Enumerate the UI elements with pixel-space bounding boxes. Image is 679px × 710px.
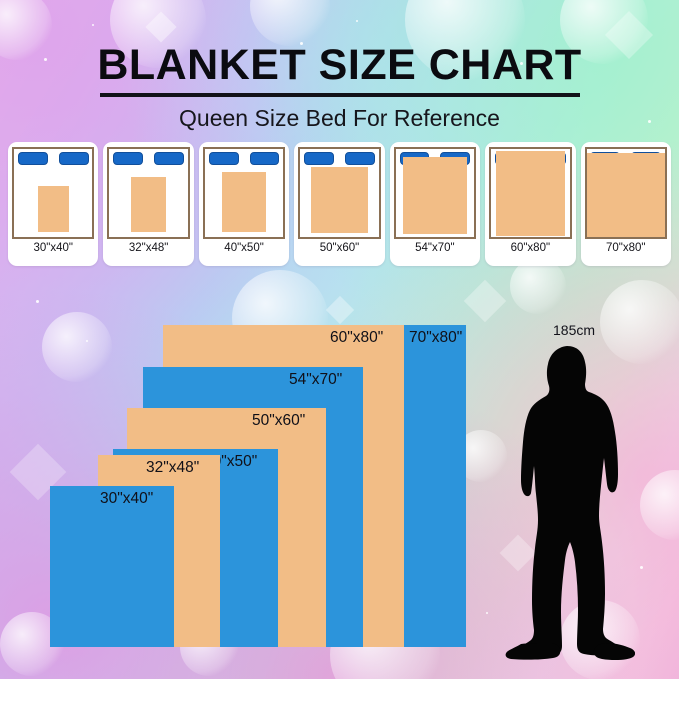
bed-card: 54"x70" (390, 142, 480, 266)
male-silhouette-icon (505, 344, 635, 662)
bed-card-label: 60"x80" (511, 242, 551, 254)
blanket-overlay (587, 153, 665, 237)
blanket-overlay (222, 172, 266, 232)
bed-frame (203, 147, 285, 239)
bed-frame (107, 147, 189, 239)
page-title: BLANKET SIZE CHART (97, 44, 581, 93)
pillow-right (250, 152, 280, 165)
bed-reference-row: 30"x40"32"x48"40"x50"50"x60"54"x70"60"x8… (8, 142, 671, 266)
bed-frame (489, 147, 571, 239)
bed-frame (585, 147, 667, 239)
bed-frame (12, 147, 94, 239)
bed-card-label: 50"x60" (320, 242, 360, 254)
person-reference-group: 185cm (505, 322, 675, 662)
pillow-left (304, 152, 334, 165)
blanket-overlay (38, 186, 69, 232)
bed-card: 60"x80" (485, 142, 575, 266)
pillow-left (209, 152, 239, 165)
bed-card-label: 70"x80" (606, 242, 646, 254)
size-rect (50, 486, 174, 647)
size-rect-label: 54"x70" (289, 371, 342, 389)
pillow-left (113, 152, 143, 165)
size-rect (404, 325, 466, 647)
pillow-right (59, 152, 89, 165)
bed-card-label: 40"x50" (224, 242, 264, 254)
size-rect-label: 32"x48" (146, 459, 199, 477)
title-block: BLANKET SIZE CHART Queen Size Bed For Re… (0, 44, 679, 132)
bed-card: 50"x60" (294, 142, 384, 266)
page-subtitle: Queen Size Bed For Reference (0, 105, 679, 132)
blanket-overlay (131, 177, 166, 232)
size-rect-label: 50"x60" (252, 412, 305, 430)
person-height-label: 185cm (553, 322, 595, 338)
size-rect-label: 30"x40" (100, 490, 153, 508)
pillow-right (345, 152, 375, 165)
title-underline (100, 93, 580, 97)
blanket-overlay (496, 151, 565, 236)
pillow-left (18, 152, 48, 165)
blanket-overlay (403, 157, 467, 234)
bed-card-label: 30"x40" (33, 242, 73, 254)
bed-card: 30"x40" (8, 142, 98, 266)
bed-frame (298, 147, 380, 239)
bed-card-label: 54"x70" (415, 242, 455, 254)
pillow-right (154, 152, 184, 165)
bed-card: 40"x50" (199, 142, 289, 266)
bed-card: 70"x80" (581, 142, 671, 266)
blanket-overlay (311, 167, 367, 234)
bed-card-label: 32"x48" (129, 242, 169, 254)
bed-frame (394, 147, 476, 239)
bed-card: 32"x48" (103, 142, 193, 266)
size-rect-label: 70"x80" (409, 329, 462, 347)
size-rect-label: 60"x80" (330, 329, 383, 347)
